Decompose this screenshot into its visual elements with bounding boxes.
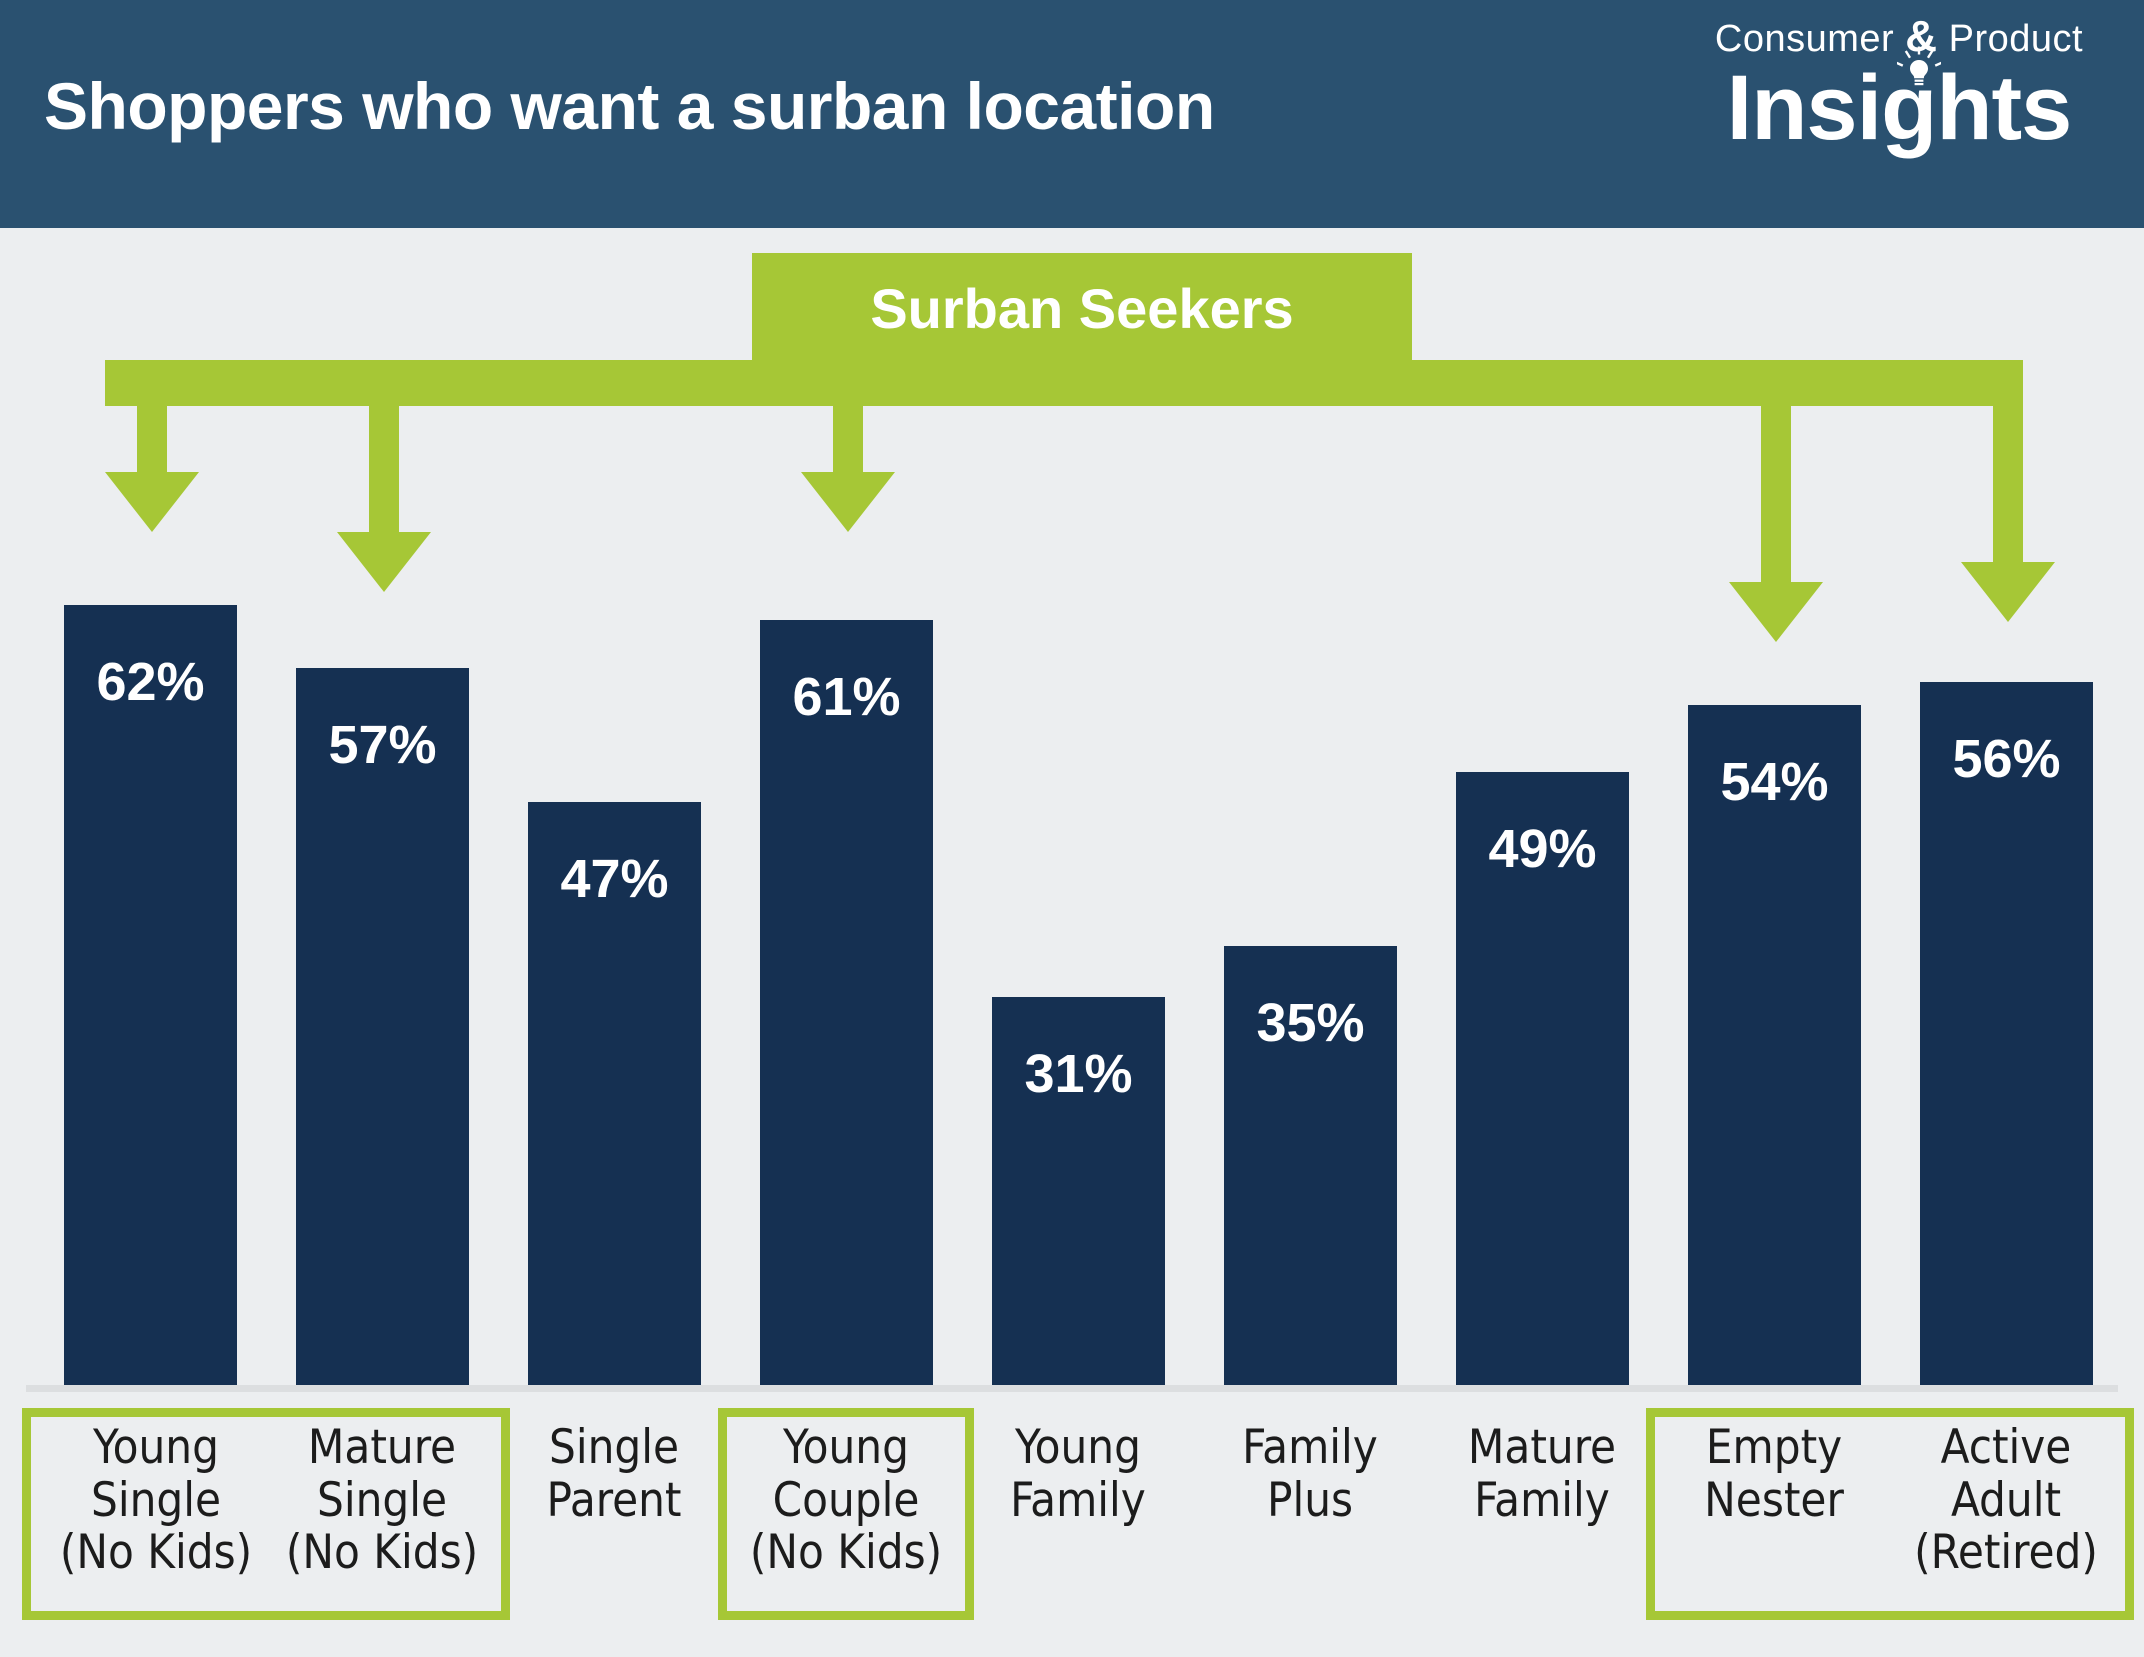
bar-young-family: 31% (992, 997, 1165, 1385)
bar-value-mature-single: 57% (296, 714, 469, 776)
bar-value-active-adult: 56% (1920, 728, 2093, 790)
category-line: Single (266, 1475, 498, 1528)
category-line: (No Kids) (730, 1527, 962, 1580)
slide-canvas: Shoppers who want a surban location Cons… (0, 0, 2144, 1657)
bar-single-parent: 47% (528, 802, 701, 1385)
bar-mature-family: 49% (1456, 772, 1629, 1385)
axis-baseline (26, 1385, 2118, 1392)
bar-value-young-single: 62% (64, 651, 237, 713)
category-line: Young (962, 1422, 1194, 1475)
bar-value-young-family: 31% (992, 1043, 1165, 1105)
bar-young-couple: 61% (760, 620, 933, 1385)
category-line: Young (730, 1422, 962, 1475)
category-line: Mature (1426, 1422, 1658, 1475)
category-line: Nester (1658, 1475, 1890, 1528)
category-label-young-family: Young Family (962, 1422, 1194, 1527)
category-line: Young (40, 1422, 272, 1475)
bar-empty-nester: 54% (1688, 705, 1861, 1385)
category-axis-labels: Young Single (No Kids) Mature Single (No… (0, 1408, 2144, 1648)
category-line: Single (40, 1475, 272, 1528)
bar-value-young-couple: 61% (760, 666, 933, 728)
category-label-family-plus: Family Plus (1194, 1422, 1426, 1527)
bar-active-adult: 56% (1920, 682, 2093, 1385)
category-label-active-adult: Active Adult (Retired) (1890, 1422, 2122, 1580)
category-line: Empty (1658, 1422, 1890, 1475)
category-line: Adult (1890, 1475, 2122, 1528)
category-line: Family (962, 1475, 1194, 1528)
category-line: Plus (1194, 1475, 1426, 1528)
category-label-mature-family: Mature Family (1426, 1422, 1658, 1527)
bar-value-single-parent: 47% (528, 848, 701, 910)
category-line: Couple (730, 1475, 962, 1528)
category-line: (No Kids) (266, 1527, 498, 1580)
category-label-young-couple: Young Couple (No Kids) (730, 1422, 962, 1580)
bar-young-single: 62% (64, 605, 237, 1385)
bar-chart-plot: 62% 57% 47% 61% 31% 35% 49% 54% 56% (0, 0, 2144, 1385)
bar-value-mature-family: 49% (1456, 818, 1629, 880)
category-line: (No Kids) (40, 1527, 272, 1580)
bar-value-empty-nester: 54% (1688, 751, 1861, 813)
category-line: Mature (266, 1422, 498, 1475)
category-label-mature-single: Mature Single (No Kids) (266, 1422, 498, 1580)
category-line: Parent (498, 1475, 730, 1528)
category-label-empty-nester: Empty Nester (1658, 1422, 1890, 1527)
category-line: Family (1194, 1422, 1426, 1475)
bar-family-plus: 35% (1224, 946, 1397, 1385)
category-line: (Retired) (1890, 1527, 2122, 1580)
category-label-single-parent: Single Parent (498, 1422, 730, 1527)
category-label-young-single: Young Single (No Kids) (40, 1422, 272, 1580)
category-line: Single (498, 1422, 730, 1475)
category-line: Active (1890, 1422, 2122, 1475)
bar-mature-single: 57% (296, 668, 469, 1385)
category-line: Family (1426, 1475, 1658, 1528)
bar-value-family-plus: 35% (1224, 992, 1397, 1054)
